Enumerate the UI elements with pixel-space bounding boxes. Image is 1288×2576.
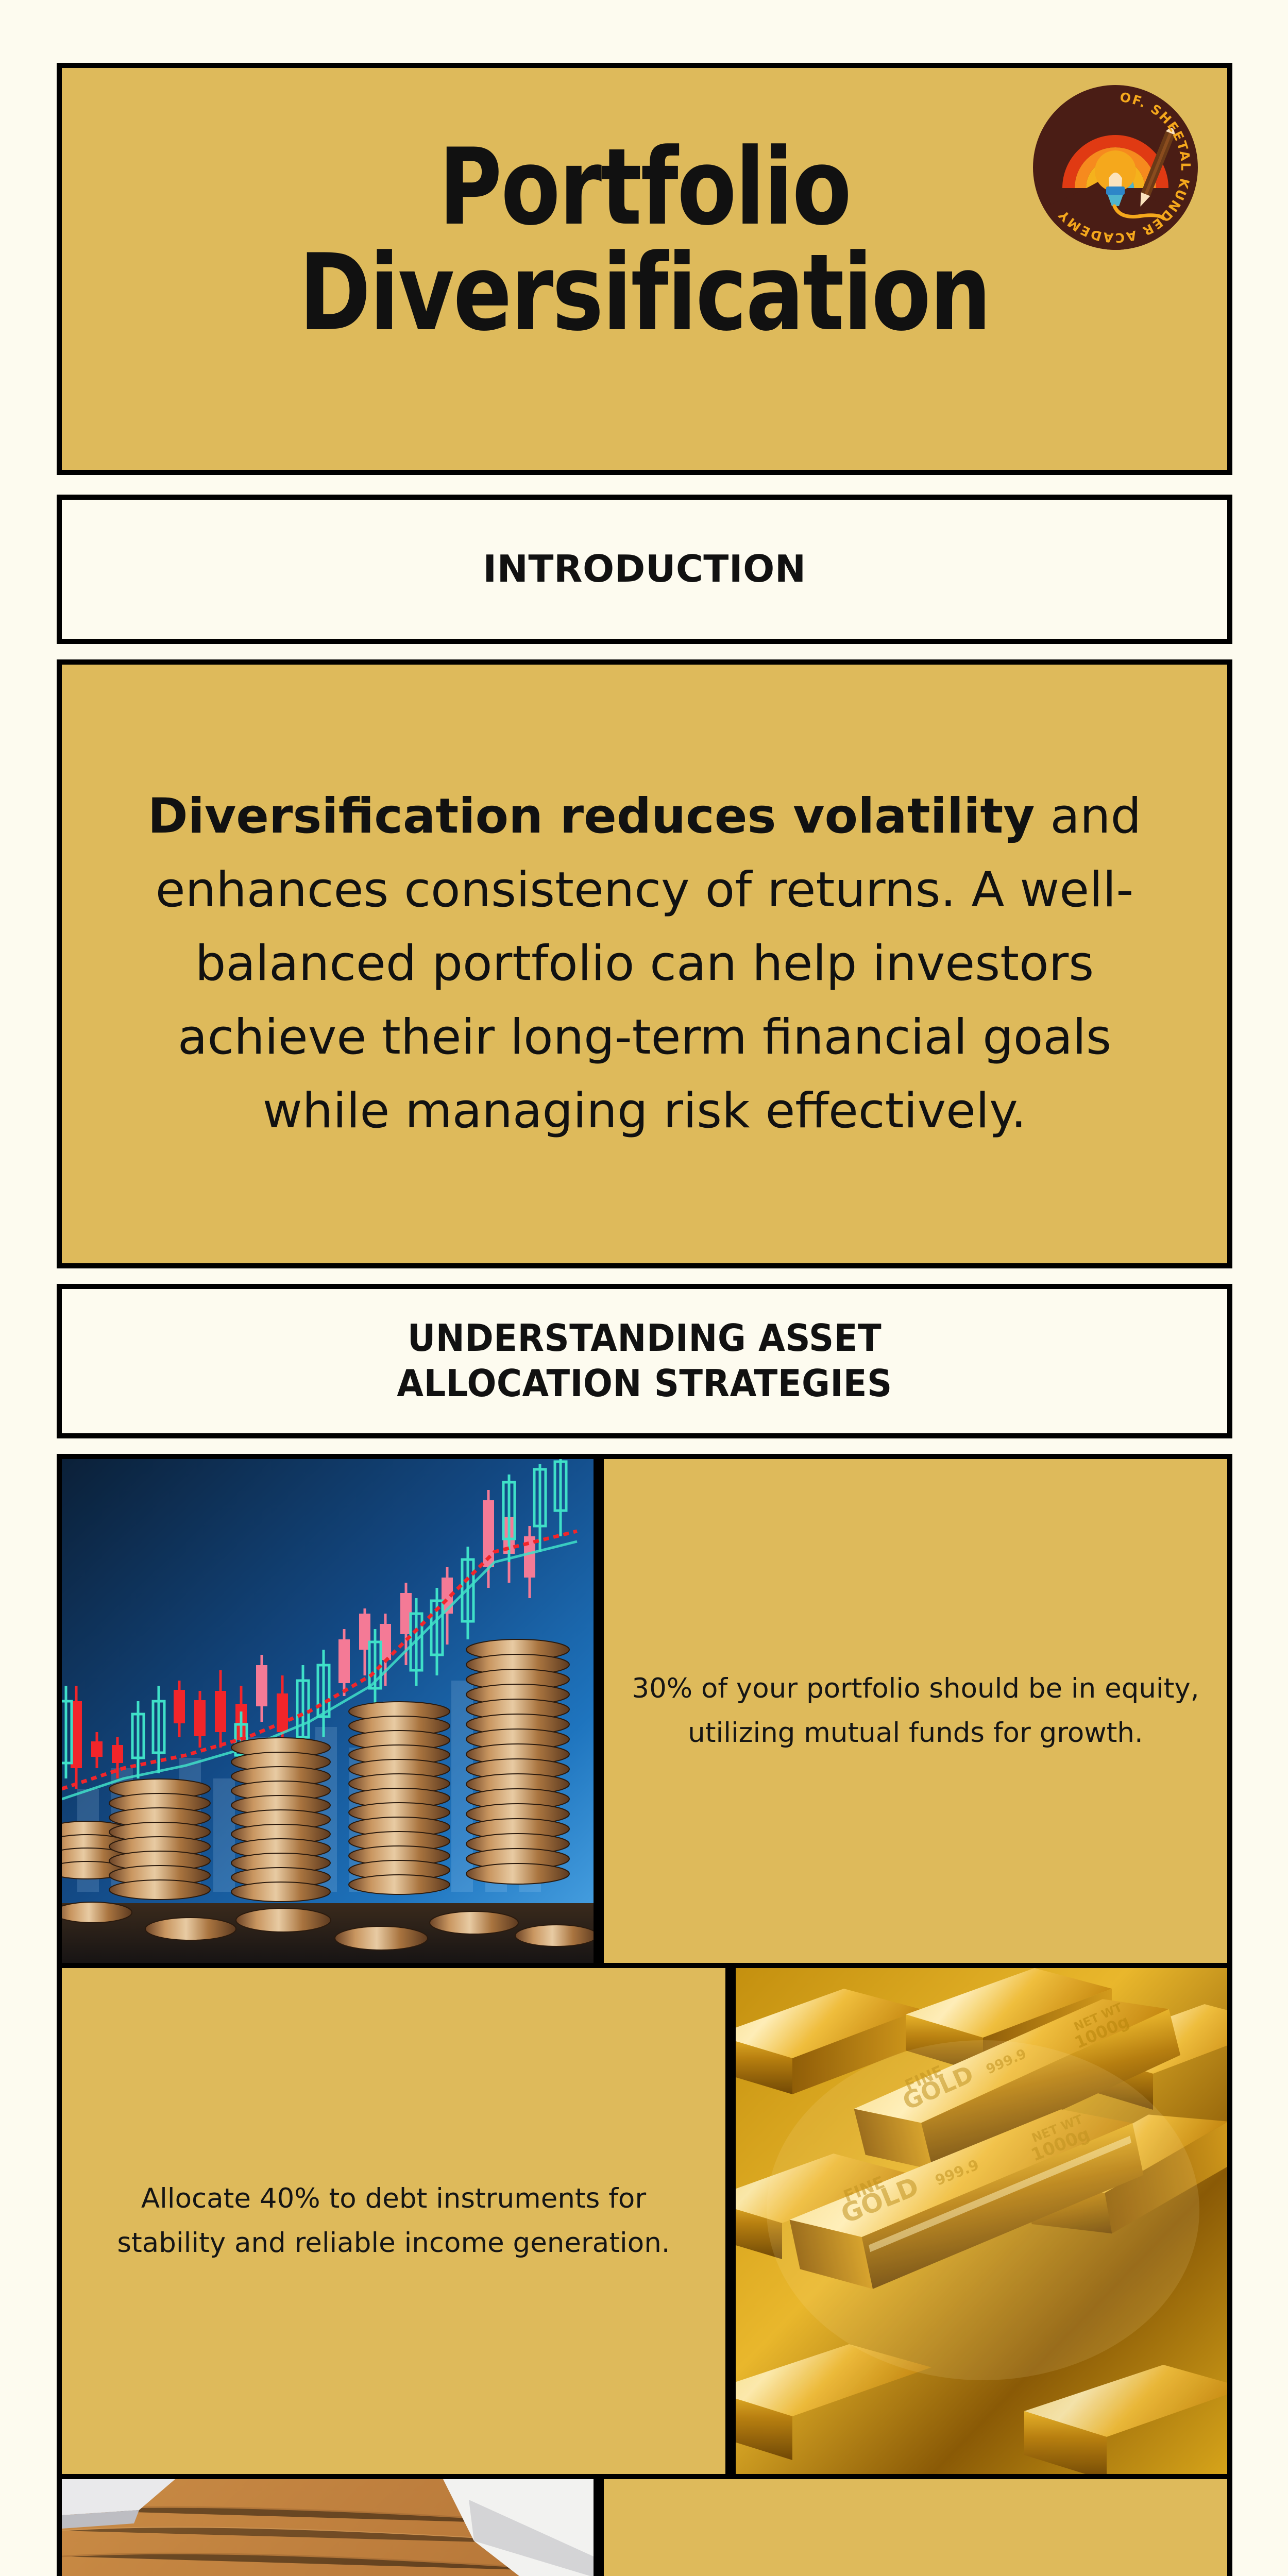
section-heading-allocation-line2: ALLOCATION STRATEGIES <box>131 1361 1158 1406</box>
government-text-cell: Invest 20% in government savings schemes… <box>599 2474 1232 2576</box>
bonds-image-cell <box>57 2474 599 2576</box>
section-band-introduction: INTRODUCTION <box>57 495 1232 644</box>
equity-text-cell: 30% of your portfolio should be in equit… <box>599 1454 1232 1968</box>
page-title-line1: Portfolio <box>167 135 1123 241</box>
government-bonds-notepad-photo <box>62 2479 594 2576</box>
page-title-line2: Diversification <box>167 241 1123 346</box>
page-title: Portfolio Diversification <box>167 135 1123 346</box>
header-panel: Portfolio Diversification <box>57 63 1232 475</box>
debt-description: Allocate 40% to debt instruments for sta… <box>87 2177 701 2265</box>
infographic-poster: Portfolio Diversification <box>57 63 1232 2576</box>
gold-bars-photo: FINE GOLD 999.9 NET WT 1000g FINE GOLD 9… <box>736 1968 1227 2474</box>
academy-logo-icon: PROF. SHEETAL KUNDER ACADEMY <box>1030 82 1200 252</box>
debt-text-cell: Allocate 40% to debt instruments for sta… <box>57 1963 731 2479</box>
introduction-emphasis: Diversification reduces volatility <box>148 788 1035 844</box>
section-heading-introduction: INTRODUCTION <box>62 547 1227 592</box>
gold-image-cell: FINE GOLD 999.9 NET WT 1000g FINE GOLD 9… <box>731 1963 1232 2479</box>
equity-image-cell <box>57 1454 599 1968</box>
introduction-body-panel: Diversification reduces volatility and e… <box>57 659 1232 1268</box>
section-heading-allocation: UNDERSTANDING ASSET ALLOCATION STRATEGIE… <box>103 1316 1187 1406</box>
academy-logo: PROF. SHEETAL KUNDER ACADEMY <box>1030 82 1200 252</box>
coin-stacks-candlestick-chart-photo <box>62 1459 594 1963</box>
section-band-allocation: UNDERSTANDING ASSET ALLOCATION STRATEGIE… <box>57 1284 1232 1438</box>
introduction-paragraph: Diversification reduces volatility and e… <box>124 780 1165 1148</box>
equity-description: 30% of your portfolio should be in equit… <box>629 1667 1202 1755</box>
section-heading-allocation-line1: UNDERSTANDING ASSET <box>131 1316 1158 1361</box>
